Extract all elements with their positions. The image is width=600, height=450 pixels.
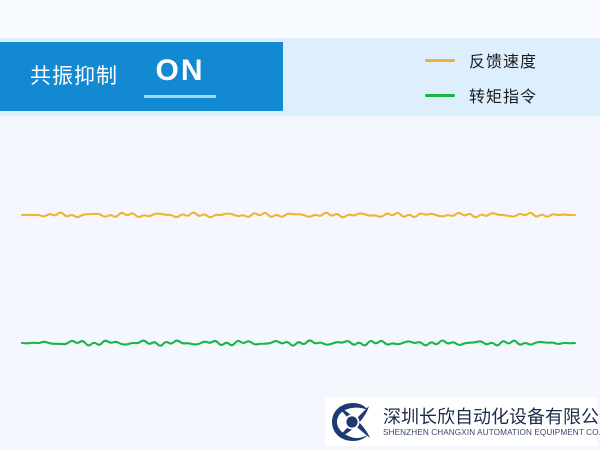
waveform-svg bbox=[0, 116, 600, 386]
legend-line-swatch-icon bbox=[425, 94, 455, 97]
resonance-suppression-label: 共振抑制 bbox=[30, 66, 118, 87]
resonance-suppression-banner[interactable]: 共振抑制 ON bbox=[0, 42, 283, 111]
logo-company-name-en: SHENZHEN CHANGXIN AUTOMATION EQUIPMENT C… bbox=[383, 428, 600, 438]
circular-x-logomark-icon bbox=[329, 401, 377, 443]
screenshot-root: 共振抑制 ON 反馈速度 转矩指令 深圳长 bbox=[0, 0, 600, 450]
waveform-plot bbox=[0, 116, 600, 386]
legend-item-torque-command[interactable]: 转矩指令 bbox=[425, 83, 537, 107]
resonance-suppression-value-wrap: ON bbox=[144, 56, 216, 98]
legend-label: 反馈速度 bbox=[469, 48, 537, 72]
logo-company-name-cn: 深圳长欣自动化设备有限公司 bbox=[383, 407, 600, 427]
value-underline bbox=[144, 95, 216, 98]
legend-item-feedback-speed[interactable]: 反馈速度 bbox=[425, 48, 537, 72]
header-band-top bbox=[0, 0, 600, 38]
company-logo: 深圳长欣自动化设备有限公司 SHENZHEN CHANGXIN AUTOMATI… bbox=[325, 398, 597, 446]
legend-label: 转矩指令 bbox=[469, 83, 537, 107]
legend-line-swatch-icon bbox=[425, 59, 455, 62]
trace-feedback-speed bbox=[22, 213, 575, 218]
chart-legend: 反馈速度 转矩指令 bbox=[425, 48, 537, 107]
resonance-suppression-value: ON bbox=[156, 56, 205, 86]
trace-torque-command bbox=[22, 341, 575, 346]
logo-text-block: 深圳长欣自动化设备有限公司 SHENZHEN CHANGXIN AUTOMATI… bbox=[383, 407, 600, 438]
